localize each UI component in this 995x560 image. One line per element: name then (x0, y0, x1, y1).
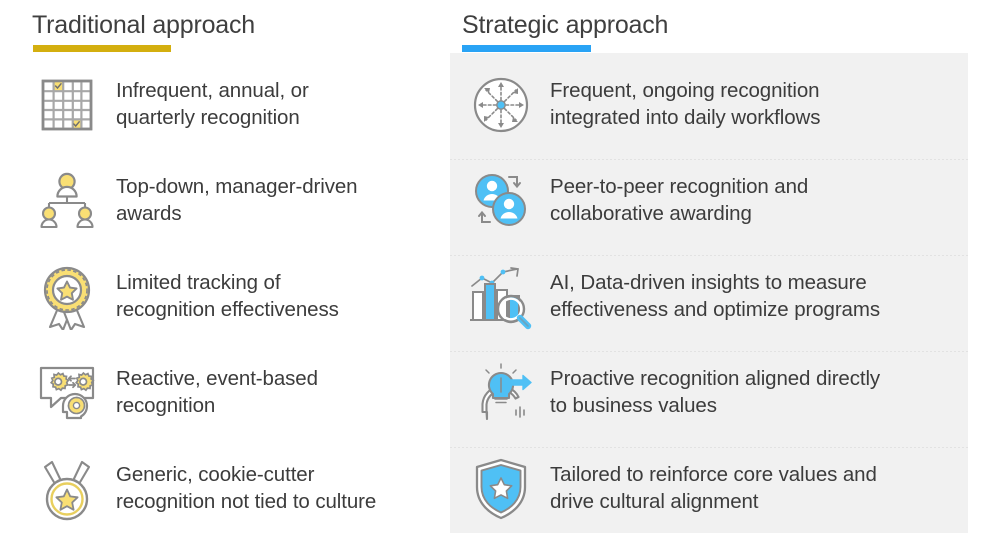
peer-exchange-people-icon (462, 159, 540, 243)
column-traditional: Traditional approach (0, 0, 450, 560)
shield-star-icon (462, 447, 540, 531)
list-item[interactable]: Frequent, ongoing recognition integrated… (450, 63, 995, 159)
list-item[interactable]: Reactive, event-based recognition (0, 351, 450, 447)
column-title-strategic: Strategic approach (462, 12, 668, 40)
list-item-text: Frequent, ongoing recognition integrated… (540, 63, 995, 131)
list-item-text: AI, Data-driven insights to measure effe… (540, 255, 995, 323)
radiating-arrows-circle-icon (462, 63, 540, 147)
list-item[interactable]: Infrequent, annual, or quarterly recogni… (0, 63, 450, 159)
column-strategic: Strategic approach (450, 0, 995, 560)
list-item-text: Infrequent, annual, or quarterly recogni… (106, 63, 450, 131)
lightbulb-head-arrow-icon (462, 351, 540, 435)
list-item[interactable]: Tailored to reinforce core values and dr… (450, 447, 995, 543)
list-item-text: Top-down, manager-driven awards (106, 159, 450, 227)
award-rosette-icon (28, 255, 106, 339)
list-item[interactable]: Generic, cookie-cutter recognition not t… (0, 447, 450, 543)
chart-magnifier-icon (462, 255, 540, 339)
list-item-text: Generic, cookie-cutter recognition not t… (106, 447, 450, 515)
list-item[interactable]: Limited tracking of recognition effectiv… (0, 255, 450, 351)
feature-list-strategic: Frequent, ongoing recognition integrated… (450, 63, 995, 543)
column-accent-rule-traditional (33, 45, 171, 52)
comparison-slide: Traditional approach (0, 0, 995, 560)
list-item-text: Proactive recognition aligned directly t… (540, 351, 995, 419)
list-item-text: Limited tracking of recognition effectiv… (106, 255, 450, 323)
medal-star-icon (28, 447, 106, 531)
list-item-text: Peer-to-peer recognition and collaborati… (540, 159, 995, 227)
list-item[interactable]: Top-down, manager-driven awards (0, 159, 450, 255)
list-item-text: Reactive, event-based recognition (106, 351, 450, 419)
column-title-traditional: Traditional approach (32, 12, 255, 40)
list-item[interactable]: AI, Data-driven insights to measure effe… (450, 255, 995, 351)
org-chart-people-icon (28, 159, 106, 243)
column-accent-rule-strategic (462, 45, 591, 52)
list-item[interactable]: Proactive recognition aligned directly t… (450, 351, 995, 447)
list-item[interactable]: Peer-to-peer recognition and collaborati… (450, 159, 995, 255)
list-item-text: Tailored to reinforce core values and dr… (540, 447, 995, 515)
speech-gears-head-icon (28, 351, 106, 435)
calendar-grid-icon (28, 63, 106, 147)
feature-list-traditional: Infrequent, annual, or quarterly recogni… (0, 63, 450, 543)
